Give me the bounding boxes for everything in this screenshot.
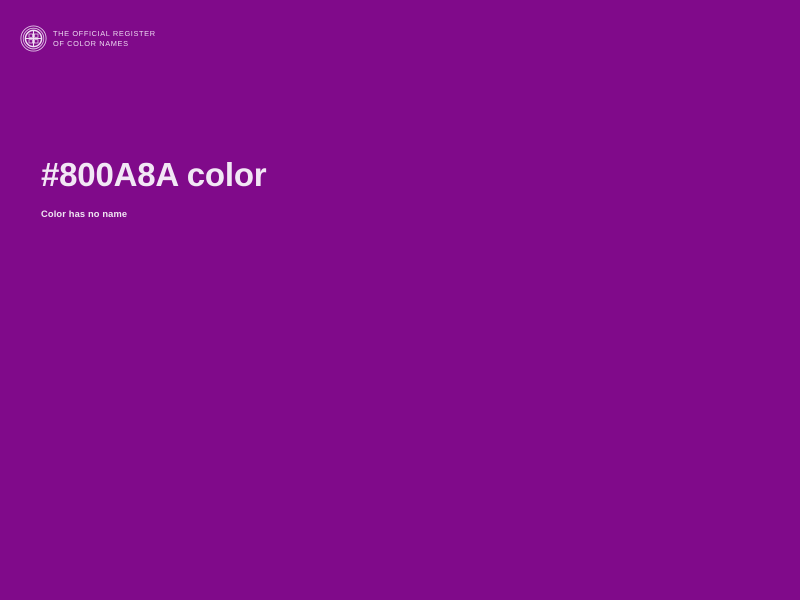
brand-wordmark: THE OFFICIAL REGISTER OF COLOR NAMES [53, 28, 156, 48]
brand-line-2: OF COLOR NAMES [53, 39, 156, 49]
brand-line-1: THE OFFICIAL REGISTER [53, 29, 156, 39]
color-name-status: Color has no name [41, 208, 127, 221]
page-title: #800A8A color [41, 155, 266, 195]
register-seal-icon [20, 25, 47, 52]
color-detail-page: THE OFFICIAL REGISTER OF COLOR NAMES #80… [0, 0, 800, 600]
brand-logo[interactable]: THE OFFICIAL REGISTER OF COLOR NAMES [20, 25, 156, 52]
